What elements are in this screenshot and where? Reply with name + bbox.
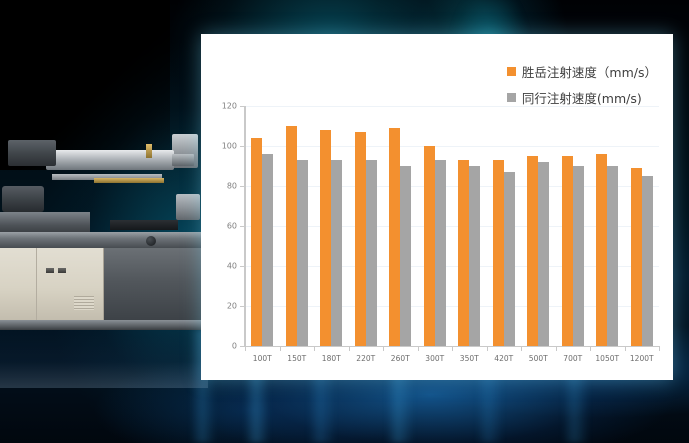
machine-drive-motor [8,140,56,166]
bar-group [556,106,591,346]
plot-area: 020406080100120 [245,106,659,346]
x-tick [245,346,246,351]
bar-shengyue-420T[interactable] [493,160,504,346]
bar-shengyue-350T[interactable] [458,160,469,346]
x-tick [590,346,591,351]
x-axis-label-700T: 700T [556,354,591,363]
machine-reflection [0,330,208,388]
bar-group [383,106,418,346]
machine-barrel [46,150,174,170]
machine-safety-guard [104,248,208,320]
machine-bed [0,232,208,248]
bar-group [590,106,625,346]
bar-shengyue-1200T[interactable] [631,168,642,346]
x-axis-label-220T: 220T [349,354,384,363]
x-tick [280,346,281,351]
legend-swatch-series2 [507,93,516,102]
x-tick [452,346,453,351]
x-tick [659,346,660,351]
bar-shengyue-500T[interactable] [527,156,538,346]
bar-peer-350T[interactable] [469,166,480,346]
legend-label-series2: 同行注射速度(mm/s) [522,88,642,107]
bar-group [418,106,453,346]
x-tick [521,346,522,351]
y-axis-label-20: 20 [227,302,237,311]
x-tick [349,346,350,351]
bar-group [625,106,660,346]
x-axis-label-180T: 180T [314,354,349,363]
x-tick [314,346,315,351]
bar-group [487,106,522,346]
chart-panel: 胜岳注射速度（mm/s） 同行注射速度(mm/s) 02040608010012… [201,34,673,380]
machine-gold-post [146,144,152,158]
chart-legend: 胜岳注射速度（mm/s） 同行注射速度(mm/s) [507,62,657,107]
bar-shengyue-260T[interactable] [389,128,400,346]
bar-group [349,106,384,346]
legend-item-series1[interactable]: 胜岳注射速度（mm/s） [507,62,657,81]
bar-peer-420T[interactable] [504,172,515,346]
y-axis-label-100: 100 [222,142,237,151]
legend-label-series1: 胜岳注射速度（mm/s） [522,62,657,81]
bar-group [280,106,315,346]
bar-peer-300T[interactable] [435,160,446,346]
x-axis-label-100T: 100T [245,354,280,363]
bar-shengyue-1050T[interactable] [596,154,607,346]
y-axis-label-80: 80 [227,182,237,191]
bar-shengyue-220T[interactable] [355,132,366,346]
x-tick [487,346,488,351]
bar-peer-1050T[interactable] [607,166,618,346]
machine-nozzle [172,154,194,166]
machine-clamp-unit-bottom [176,194,200,220]
x-axis-label-420T: 420T [487,354,522,363]
bar-peer-500T[interactable] [538,162,549,346]
machine-secondary-motor [2,186,44,212]
x-tick [556,346,557,351]
y-axis-label-0: 0 [232,342,237,351]
machine-cabinet-vent [74,296,94,310]
x-axis-labels: 100T150T180T220T260T300T350T420T500T700T… [245,354,659,363]
bar-group [452,106,487,346]
x-tick [625,346,626,351]
bar-peer-220T[interactable] [366,160,377,346]
legend-swatch-series1 [507,67,516,76]
injection-molding-machine-photo [0,128,208,368]
x-axis-label-350T: 350T [452,354,487,363]
bar-group [314,106,349,346]
bar-group [245,106,280,346]
machine-cabinet-seam [36,248,37,320]
x-axis-label-1050T: 1050T [590,354,625,363]
bar-shengyue-150T[interactable] [286,126,297,346]
y-axis-label-120: 120 [222,102,237,111]
bar-shengyue-100T[interactable] [251,138,262,346]
bar-shengyue-300T[interactable] [424,146,435,346]
bar-shengyue-700T[interactable] [562,156,573,346]
bar-peer-1200T[interactable] [642,176,653,346]
x-axis-ticks [245,346,659,351]
bar-peer-180T[interactable] [331,160,342,346]
y-axis-label-60: 60 [227,222,237,231]
machine-cabinet-button-left [46,268,54,273]
bar-peer-150T[interactable] [297,160,308,346]
y-axis-label-40: 40 [227,262,237,271]
bar-shengyue-180T[interactable] [320,130,331,346]
x-axis-label-1200T: 1200T [625,354,660,363]
machine-top-plate [110,220,178,230]
x-axis-label-500T: 500T [521,354,556,363]
x-axis-label-150T: 150T [280,354,315,363]
machine-knob [146,236,156,246]
machine-gold-rod [94,178,164,183]
legend-item-series2[interactable]: 同行注射速度(mm/s) [507,88,642,107]
x-tick [418,346,419,351]
bar-groups [245,106,659,346]
machine-cabinet-button-right [58,268,66,273]
bar-peer-260T[interactable] [400,166,411,346]
bar-group [521,106,556,346]
machine-floor-rail [0,320,208,330]
x-axis-label-300T: 300T [418,354,453,363]
x-tick [383,346,384,351]
bar-peer-700T[interactable] [573,166,584,346]
bar-peer-100T[interactable] [262,154,273,346]
x-axis-label-260T: 260T [383,354,418,363]
slide-canvas: 胜岳注射速度（mm/s） 同行注射速度(mm/s) 02040608010012… [0,0,689,443]
